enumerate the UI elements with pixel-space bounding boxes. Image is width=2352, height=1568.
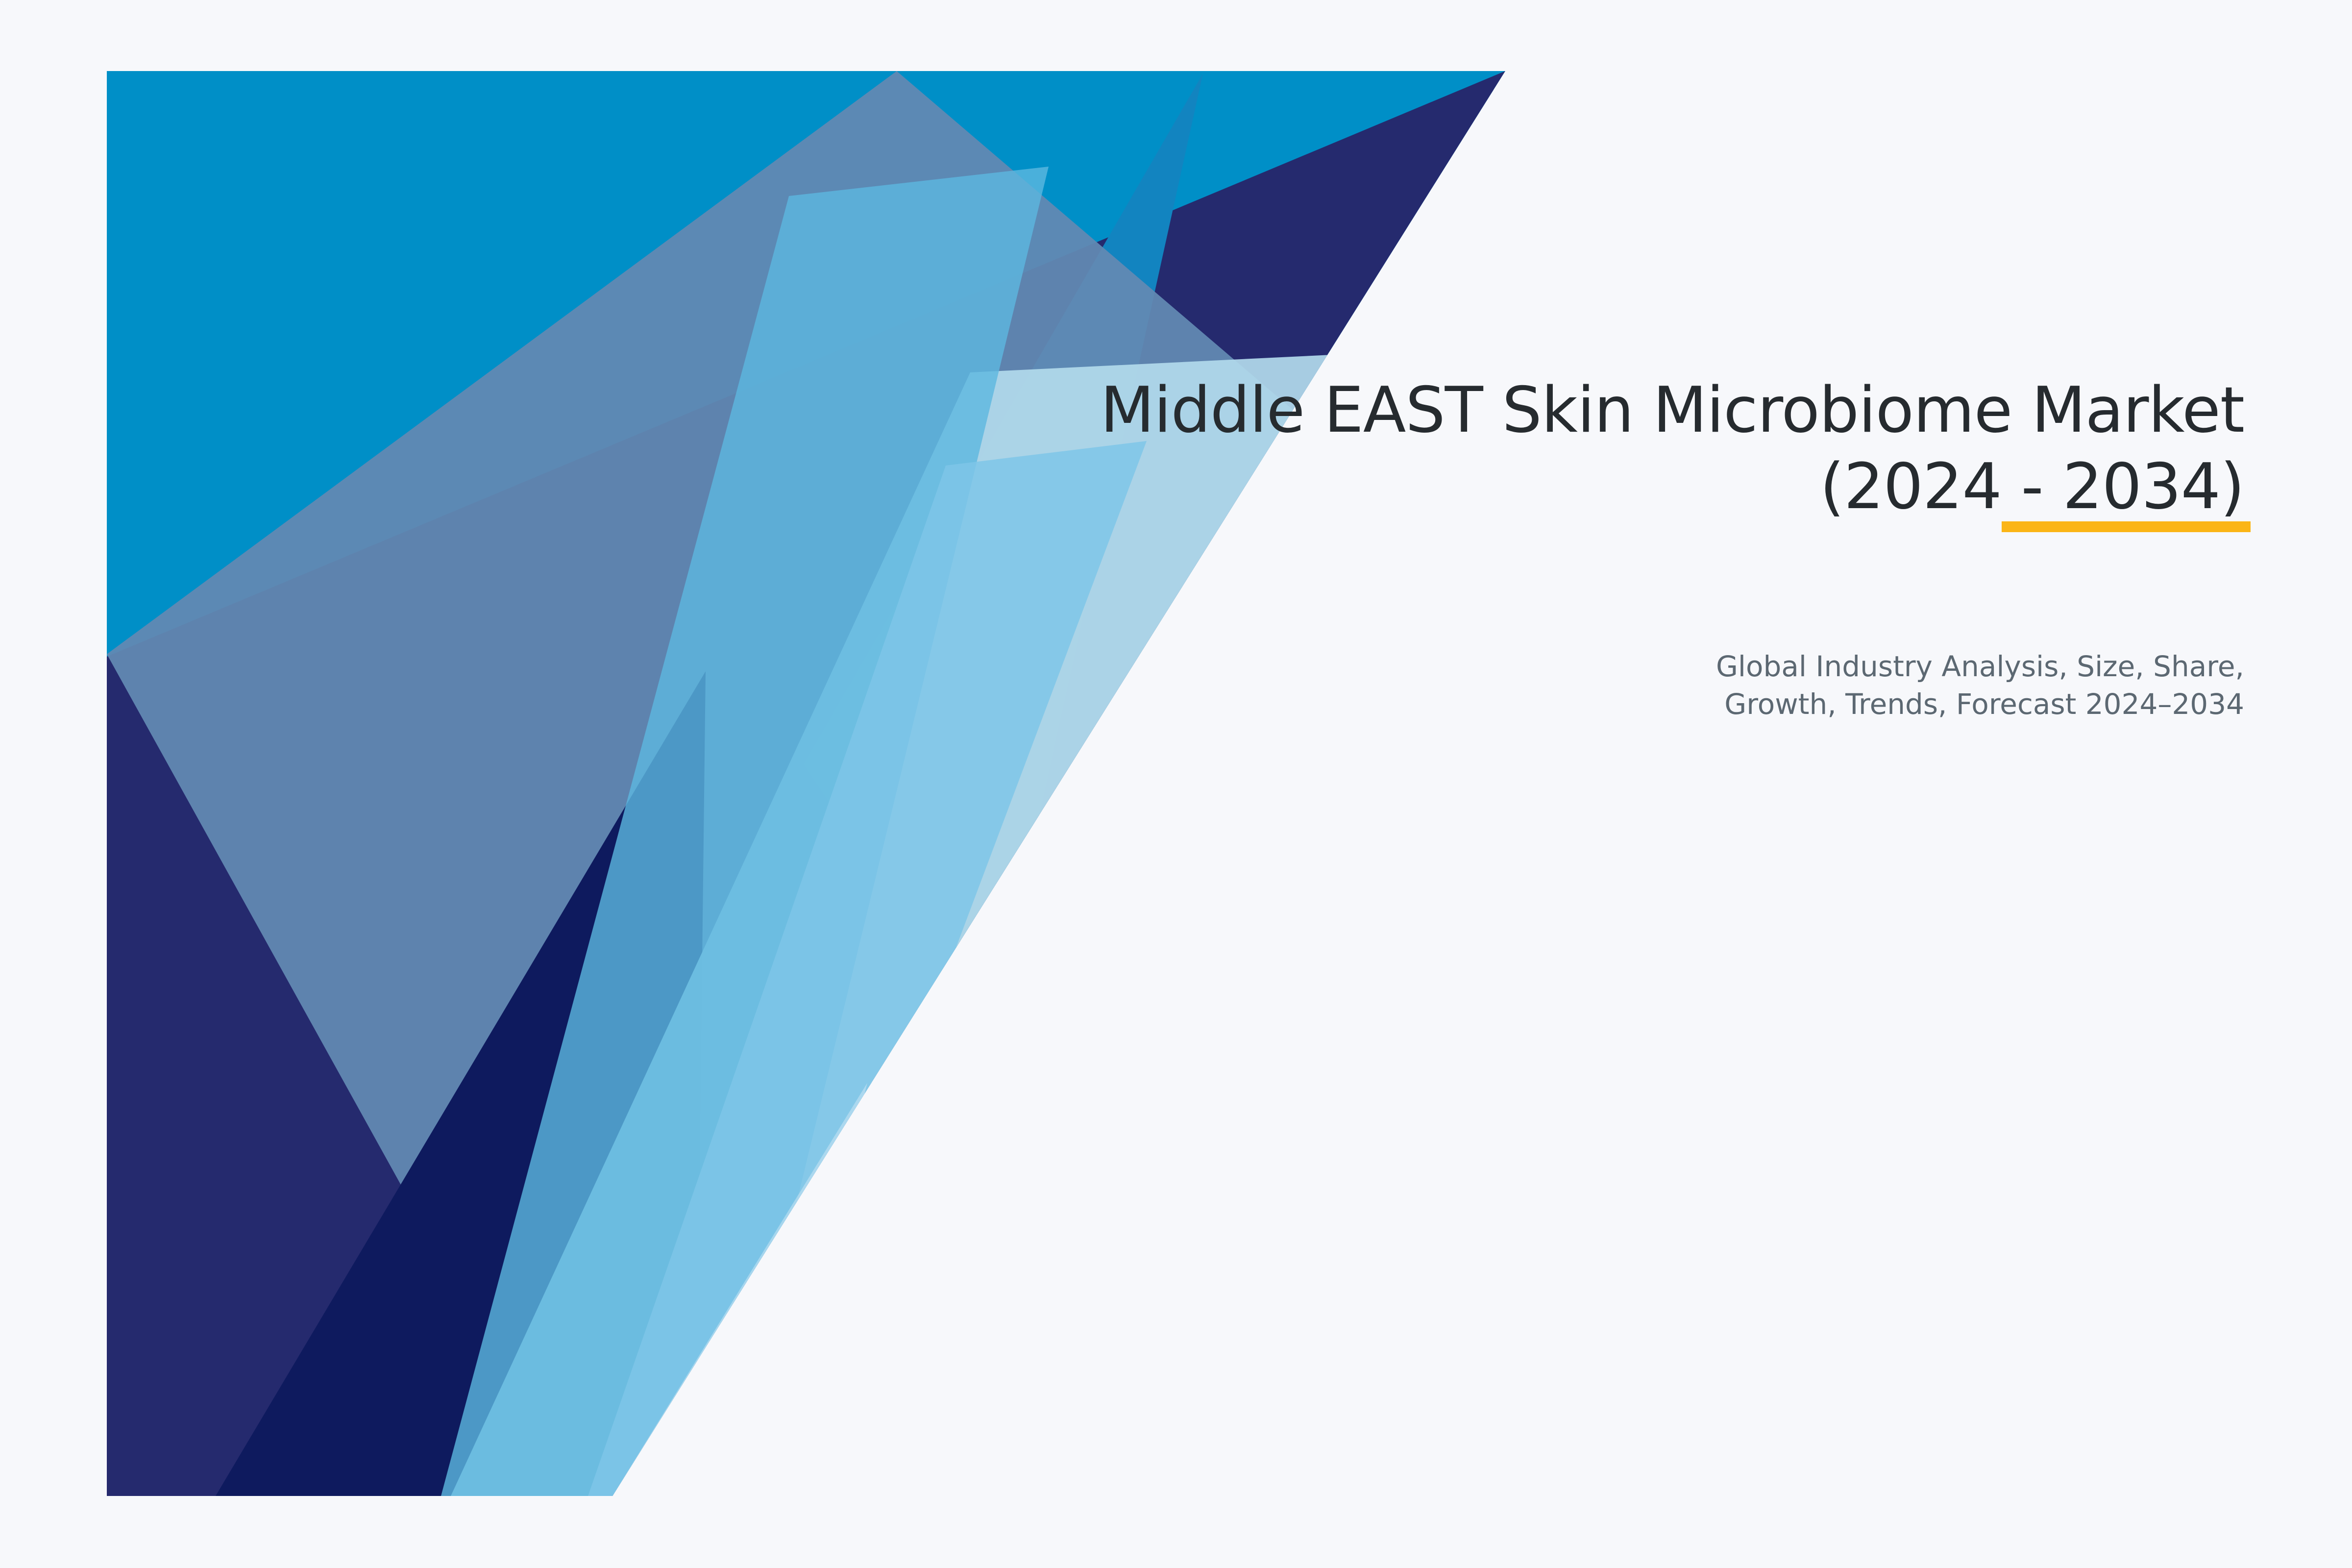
shape-cyan-base	[98, 64, 1568, 1534]
report-cover: Middle EAST Skin Microbiome Market (2024…	[0, 0, 2352, 1568]
page-subtitle: Global Industry Analysis, Size, Share, G…	[1274, 648, 2244, 723]
shape-slate-quad	[107, 71, 1421, 1496]
shape-sky-blue-band	[441, 167, 1049, 1496]
cover-text-block: Middle EAST Skin Microbiome Market (2024…	[784, 372, 2244, 525]
shape-navy-wedge	[107, 71, 1505, 1496]
abstract-polygon-artwork	[0, 0, 2352, 1568]
shape-deep-navy-spike	[216, 671, 706, 1496]
shape-cyan-spike	[804, 73, 1203, 1039]
page-title: Middle EAST Skin Microbiome Market (2024…	[784, 372, 2244, 525]
shape-light-sky-band	[588, 441, 1147, 1496]
shape-pale-triangle	[612, 1083, 867, 1496]
